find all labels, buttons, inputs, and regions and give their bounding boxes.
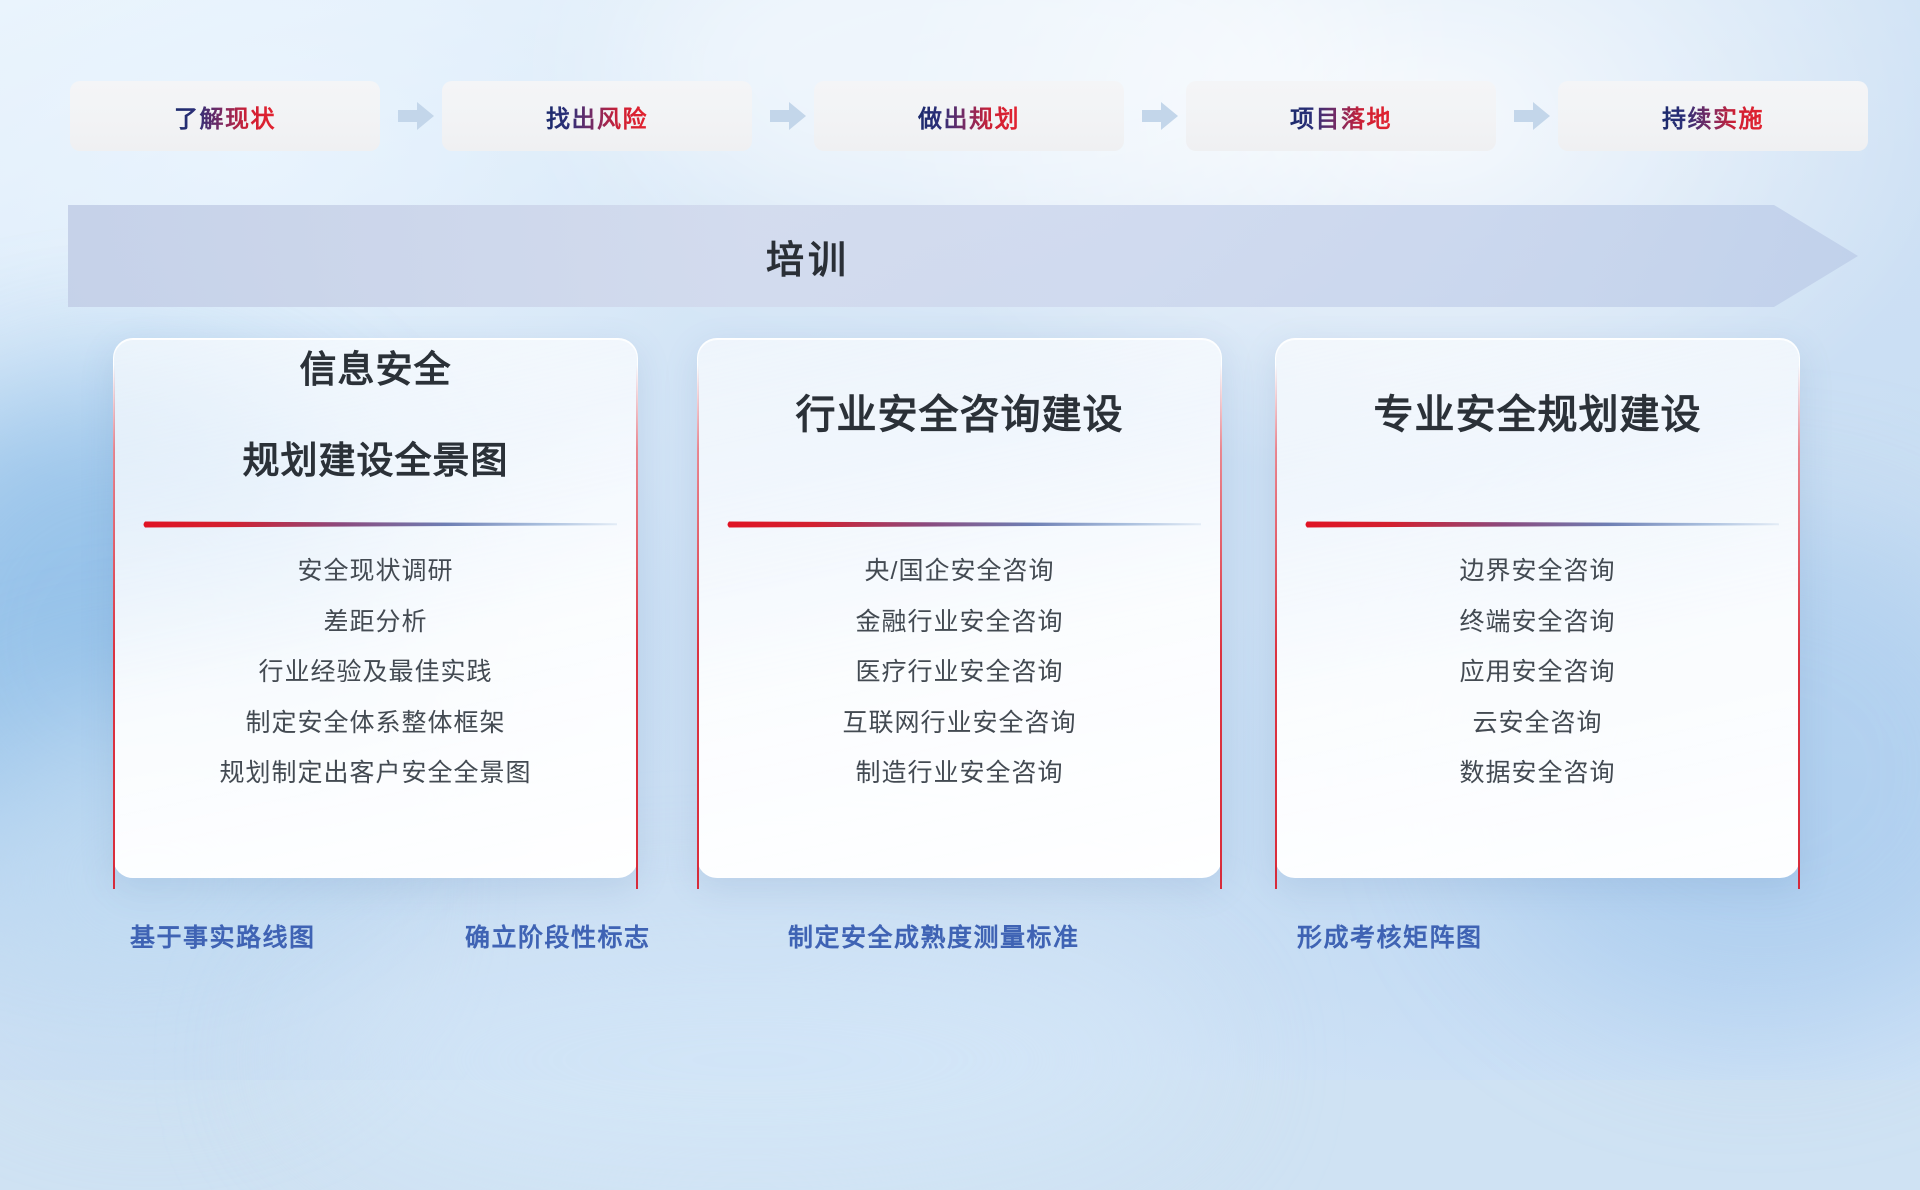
bottom-label-3: 制定安全成熟度测量标准 <box>788 918 1080 954</box>
bottom-label-4: 形成考核矩阵图 <box>1297 918 1483 954</box>
bottom-label-1: 基于事实路线图 <box>130 918 316 954</box>
slide-canvas: 了解现状 找出风险 做出规划 项目落地 持续实施 培训 <box>0 0 1920 1080</box>
bottom-label-row: 基于事实路线图 确立阶段性标志 制定安全成熟度测量标准 形成考核矩阵图 <box>0 0 1920 1080</box>
bottom-label-2: 确立阶段性标志 <box>465 918 651 954</box>
